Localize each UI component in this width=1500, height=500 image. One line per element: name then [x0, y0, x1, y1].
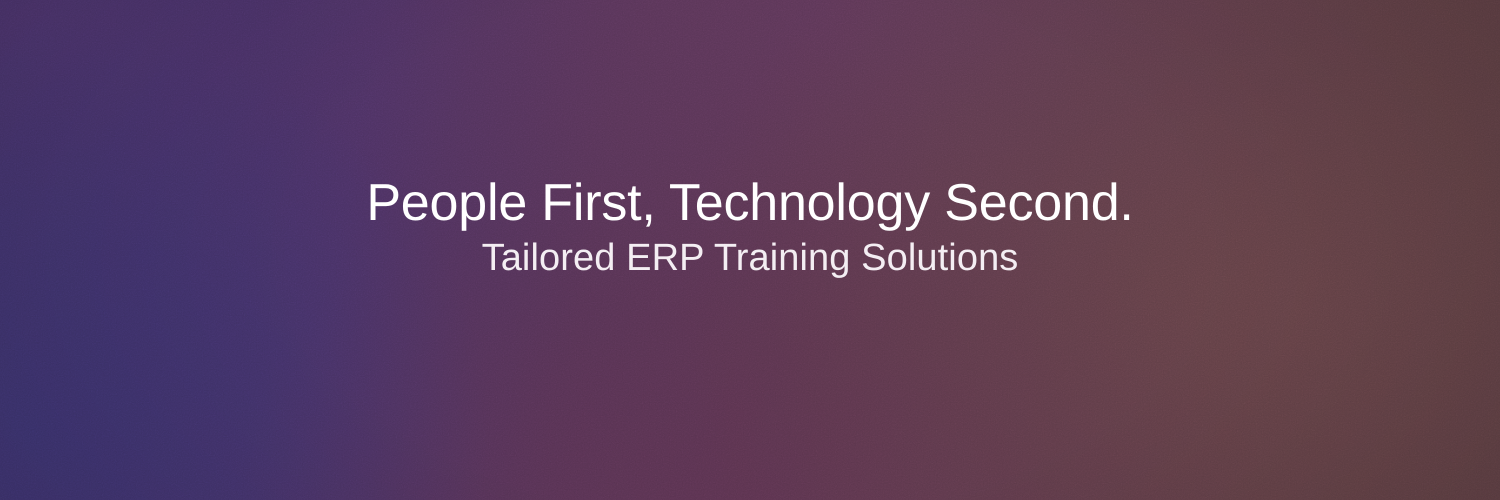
hero-subheadline: Tailored ERP Training Solutions — [482, 237, 1019, 279]
hero-banner: People First, Technology Second. Tailore… — [0, 0, 1500, 500]
hero-copy-block: People First, Technology Second. Tailore… — [0, 0, 1500, 500]
hero-headline: People First, Technology Second. — [366, 176, 1133, 230]
